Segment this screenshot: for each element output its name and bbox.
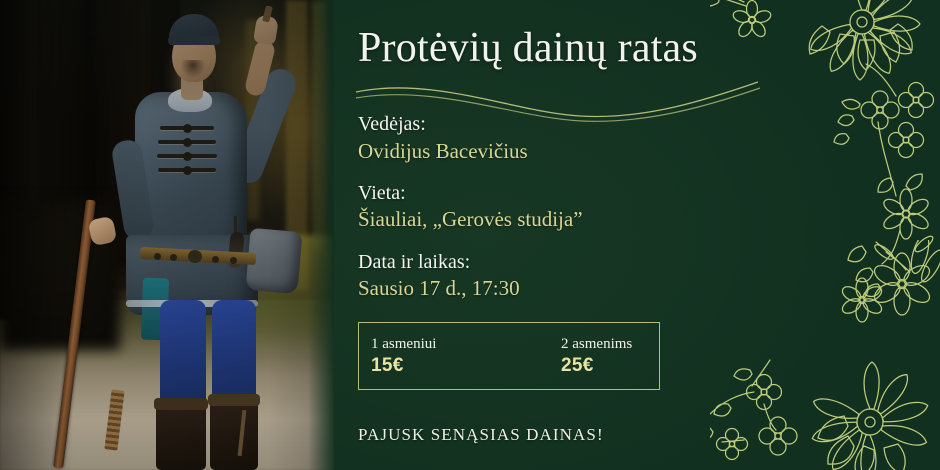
- detail-label: Vieta:: [358, 181, 738, 207]
- belt-stud: [230, 257, 237, 264]
- price-label: 2 asmenims: [561, 334, 659, 354]
- performer-photo: [0, 0, 334, 470]
- leather-boot: [210, 396, 258, 470]
- event-poster: Protėvių dainų ratas Vedėjas: Ovidijus B…: [0, 0, 940, 470]
- tunic-button: [183, 152, 192, 161]
- tagline: PAJUSK SENĄSIAS DAINAS!: [358, 425, 604, 445]
- detail-value: Sausio 17 d., 17:30: [358, 275, 738, 302]
- leather-boot: [156, 400, 206, 470]
- belt-stud: [154, 253, 161, 260]
- detail-value: Ovidijus Bacevičius: [358, 138, 738, 165]
- price-option: 1 asmeniui 15€: [359, 334, 549, 379]
- detail-row: Vieta: Šiauliai, „Gerovės studija”: [358, 181, 738, 234]
- price-option: 2 asmenims 25€: [549, 334, 659, 379]
- boot-cuff: [154, 398, 208, 410]
- floral-corner-icon: [710, 240, 940, 470]
- background-tree: [312, 0, 328, 250]
- detail-value: Šiauliai, „Gerovės studija”: [358, 206, 738, 233]
- info-panel: Protėvių dainų ratas Vedėjas: Ovidijus B…: [334, 0, 940, 470]
- beard: [181, 60, 205, 78]
- price-label: 1 asmeniui: [371, 334, 549, 354]
- price-amount: 25€: [561, 354, 659, 379]
- tunic-button: [183, 166, 192, 175]
- price-amount: 15€: [371, 354, 549, 379]
- event-details: Vedėjas: Ovidijus Bacevičius Vieta: Šiau…: [358, 112, 738, 319]
- tunic-button: [183, 124, 192, 133]
- floral-corner-icon: [710, 0, 940, 270]
- detail-label: Data ir laikas:: [358, 250, 738, 276]
- pricing-box: 1 asmeniui 15€ 2 asmenims 25€: [358, 322, 660, 390]
- detail-row: Data ir laikas: Sausio 17 d., 17:30: [358, 250, 738, 303]
- beanie-brim: [168, 36, 220, 45]
- detail-label: Vedėjas:: [358, 112, 738, 138]
- boot-cuff: [208, 394, 260, 406]
- belt-stud: [212, 256, 219, 263]
- tunic-button: [183, 138, 192, 147]
- detail-row: Vedėjas: Ovidijus Bacevičius: [358, 112, 738, 165]
- belt-stud: [170, 254, 177, 261]
